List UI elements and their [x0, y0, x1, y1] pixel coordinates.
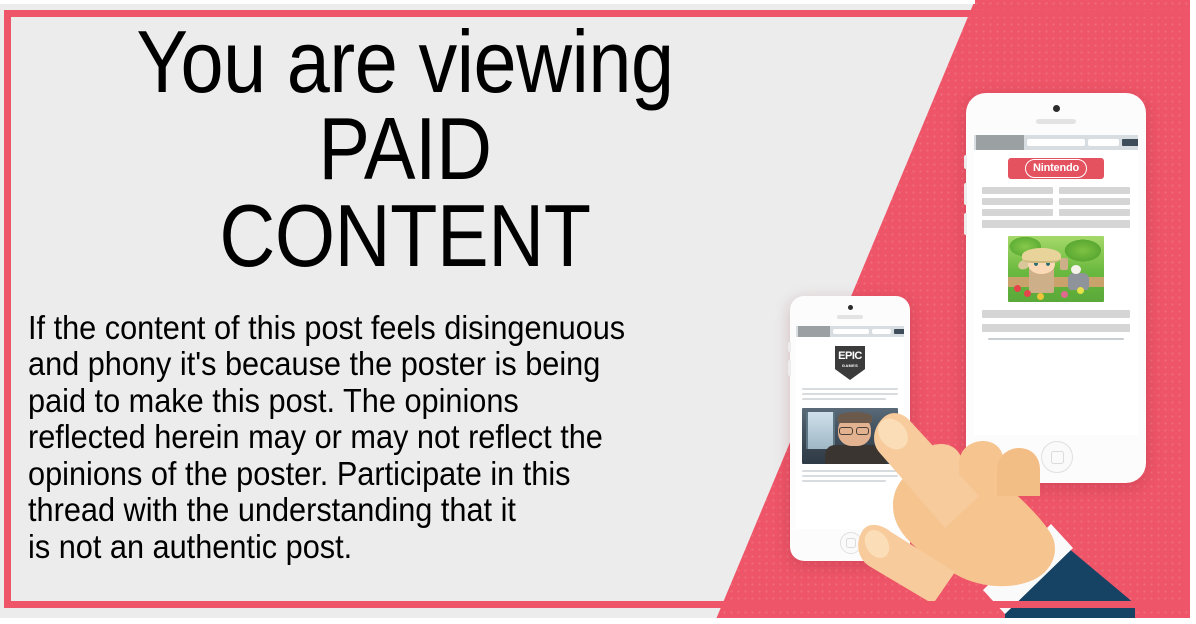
ac-villager-hat — [1022, 248, 1060, 263]
pointing-hand — [855, 408, 1135, 624]
browser-chrome[interactable] — [796, 326, 904, 337]
finger-pinky — [997, 448, 1040, 496]
text-placeholder-bar — [1059, 187, 1130, 194]
ac-path — [1008, 277, 1104, 288]
ac-flower — [1014, 285, 1021, 292]
browser-search-bar[interactable] — [872, 329, 891, 334]
earpiece-speaker — [1036, 119, 1076, 124]
phone-screen-nintendo[interactable]: Nintendo — [974, 135, 1138, 435]
text-placeholder-lines — [802, 388, 898, 400]
text-placeholder-line — [802, 398, 886, 400]
headline-line-2: PAID — [66, 105, 744, 192]
text-placeholder-bar — [982, 220, 1130, 228]
front-camera-icon — [848, 305, 853, 310]
text-placeholder-bar — [1059, 198, 1130, 205]
page-edge-top — [0, 0, 975, 4]
body-line-4: reflected herein may or may not reflect … — [28, 419, 670, 455]
headline-line-3: CONTENT — [66, 192, 744, 279]
page-edge-right — [1190, 0, 1196, 624]
body-line-1: If the content of this post feels dising… — [28, 310, 670, 346]
epic-logo-text: EPIC — [838, 351, 862, 362]
page-footer-rule — [988, 338, 1124, 340]
browser-url-bar[interactable] — [1027, 139, 1085, 146]
page-title: You are viewing PAID CONTENT — [66, 18, 744, 279]
epic-logo-subtext: GAMES — [842, 364, 858, 368]
signal-strength-icon — [894, 329, 904, 334]
browser-tab-active[interactable] — [976, 135, 1024, 150]
body-line-5: opinions of the poster. Participate in t… — [28, 456, 670, 492]
ac-plant — [1060, 258, 1069, 270]
text-placeholder-bar — [982, 209, 1053, 216]
text-placeholder-line — [802, 393, 898, 395]
paid-content-poster: Nintendo — [0, 0, 1196, 624]
body-line-6: thread with the understanding that it — [28, 492, 670, 528]
ac-flower — [1024, 290, 1031, 297]
office-window — [806, 412, 835, 449]
text-placeholder-bar — [982, 310, 1130, 318]
text-placeholder-bar — [1059, 209, 1130, 216]
text-placeholder-bar — [982, 324, 1130, 332]
body-line-3: paid to make this post. The opinions — [28, 383, 670, 419]
web-page-content-nintendo: Nintendo — [974, 150, 1138, 340]
text-placeholder-bar — [982, 187, 1053, 194]
body-line-7: is not an authentic post. — [28, 529, 670, 565]
eyeglasses-icon — [839, 427, 853, 435]
signal-strength-icon — [1122, 139, 1138, 146]
animal-crossing-thumbnail[interactable] — [1008, 236, 1104, 302]
text-placeholder-bar — [982, 198, 1053, 205]
body-line-2: and phony it's because the poster is bei… — [28, 346, 670, 382]
ac-flower — [1037, 293, 1044, 300]
ac-flower — [1077, 287, 1084, 294]
earpiece-speaker — [837, 315, 863, 319]
text-placeholder-grid — [982, 187, 1130, 228]
phone-side-button-volume-up — [964, 183, 967, 205]
browser-tab-active[interactable] — [798, 326, 830, 337]
front-camera-icon — [1053, 105, 1060, 112]
phone-side-button-volume-down — [964, 213, 967, 235]
nintendo-logo-text: Nintendo — [1025, 159, 1087, 178]
epic-games-logo: EPIC GAMES — [835, 346, 865, 380]
text-placeholder-line — [802, 388, 898, 390]
page-edge-bottom — [0, 618, 1196, 624]
browser-search-bar[interactable] — [1088, 139, 1119, 146]
phone-side-button-mute — [964, 155, 967, 169]
headline-line-1: You are viewing — [66, 18, 744, 105]
text-content-area: You are viewing PAID CONTENT If the cont… — [0, 0, 800, 624]
ac-flower — [1061, 291, 1068, 298]
nintendo-logo: Nintendo — [1008, 158, 1104, 179]
disclaimer-body-text: If the content of this post feels dising… — [28, 310, 670, 565]
browser-url-bar[interactable] — [833, 329, 869, 334]
browser-chrome[interactable] — [974, 135, 1138, 150]
